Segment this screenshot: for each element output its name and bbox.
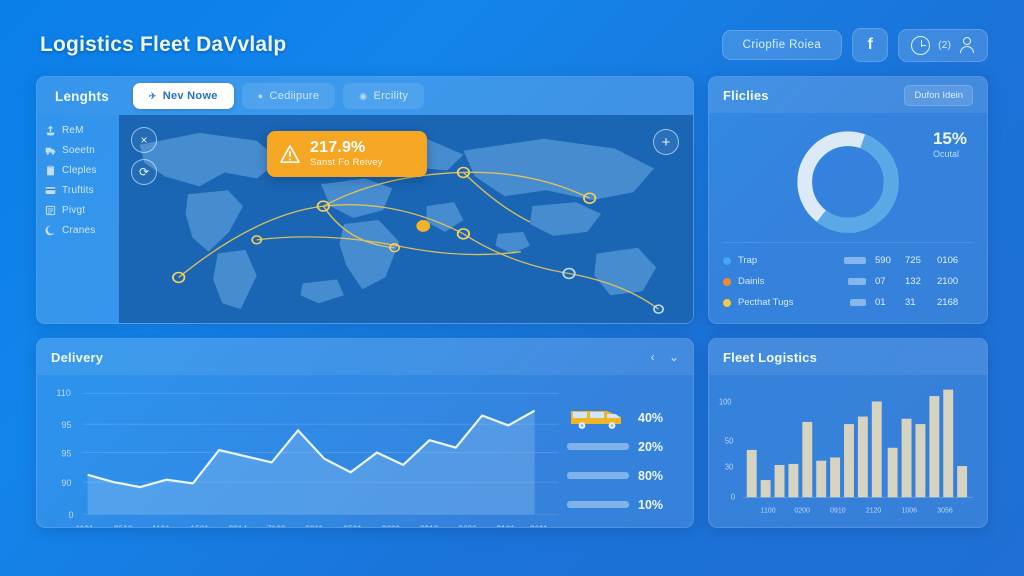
svg-text:1191: 1191 (152, 523, 170, 528)
status-icon-group[interactable]: (2) (898, 29, 988, 62)
logistics-panel-title: Fleet Logistics (723, 350, 817, 365)
svg-text:2914: 2914 (229, 523, 248, 528)
page-title: Logistics Fleet DaVvlalp (36, 33, 286, 57)
bar-icon (567, 501, 629, 508)
sidebar-item-truftits[interactable]: Truftits (45, 185, 111, 196)
svg-text:110: 110 (57, 388, 71, 398)
svg-text:2101: 2101 (496, 523, 515, 528)
alert-value: 217.9% (310, 140, 383, 157)
bar-chart-svg: 10050300 (717, 381, 977, 521)
bar-icon (567, 472, 629, 479)
donut-subtitle: Ocutal (933, 149, 967, 159)
bar-icon (567, 443, 629, 450)
svg-text:0910: 0910 (830, 505, 845, 514)
notification-badge: (2) (938, 39, 951, 51)
legend-dot-icon (723, 299, 731, 307)
legend-label: Trap (738, 255, 844, 266)
legend-value-2: 725 (905, 255, 937, 266)
location-icon: ✈ (149, 91, 157, 102)
legend-value-1: 590 (875, 255, 905, 266)
svg-text:0911: 0911 (305, 523, 323, 528)
delivery-panel-title: Delivery (51, 350, 103, 365)
fleet-legend: Trap 590 725 0106 Dainls 07 132 2100 (723, 242, 973, 313)
van-icon (567, 405, 629, 431)
delivery-nav: ‹ ⌄ (640, 348, 679, 366)
map-wrapper: ReM Soeetn Cleples Truftits (37, 115, 693, 323)
svg-text:2501: 2501 (343, 523, 362, 528)
tab-ercility[interactable]: ◉ Ercility (343, 83, 424, 109)
svg-text:95: 95 (61, 420, 71, 430)
sidebar-item-rem[interactable]: ReM (45, 125, 111, 136)
svg-text:1100: 1100 (761, 505, 776, 514)
logistics-bar-chart[interactable]: 10050300 (709, 375, 987, 527)
svg-text:3056: 3056 (937, 505, 952, 514)
svg-text:2600: 2600 (458, 523, 477, 528)
list-icon (45, 205, 56, 216)
stat-row[interactable]: 20% (567, 437, 679, 457)
sidebar-item-label: ReM (62, 125, 84, 136)
legend-row[interactable]: Pecthat Tugs 01 31 2168 (723, 292, 973, 313)
app-header: Logistics Fleet DaVvlalp Criopfie Roiea … (36, 22, 988, 68)
stat-percent: 40% (638, 411, 663, 425)
svg-text:50: 50 (725, 436, 733, 445)
card-icon (45, 185, 56, 196)
tab-label: Nev Nowe (163, 90, 218, 102)
donut-label: 15% Ocutal (933, 129, 967, 159)
facebook-icon[interactable]: f (852, 28, 888, 62)
sidebar-item-soeetn[interactable]: Soeetn (45, 145, 111, 156)
legend-row[interactable]: Trap 590 725 0106 (723, 250, 973, 271)
refresh-icon[interactable]: ⟳ (131, 159, 157, 185)
legend-dot-icon (723, 278, 731, 286)
svg-text:0: 0 (69, 510, 74, 520)
tab-label: Cediipure (269, 90, 319, 102)
dashboard-root: Logistics Fleet DaVvlalp Criopfie Roiea … (0, 0, 1024, 576)
warning-icon (279, 144, 301, 164)
svg-text:2011: 2011 (530, 523, 548, 528)
stat-percent: 10% (638, 498, 663, 512)
legend-row[interactable]: Dainls 07 132 2100 (723, 271, 973, 292)
delivery-line-chart[interactable]: 1109595 900 113125101191 150129147199 09… (47, 381, 561, 528)
donut-zone: 15% Ocutal (723, 121, 973, 242)
fleet-panel-head: Fliclies Dufon Idein (709, 77, 987, 113)
create-route-button[interactable]: Criopfie Roiea (722, 30, 842, 60)
header-actions: Criopfie Roiea f (2) (722, 28, 988, 62)
svg-text:1131: 1131 (76, 523, 94, 528)
fleet-panel-body: 15% Ocutal Trap 590 725 0106 (709, 113, 987, 323)
delivery-card: Delivery ‹ ⌄ (36, 338, 694, 528)
fleet-detail-button[interactable]: Dufon Idein (904, 85, 973, 106)
sidebar-item-label: Soeetn (62, 145, 95, 156)
legend-dot-icon (723, 257, 731, 265)
svg-text:2510: 2510 (114, 523, 133, 528)
legend-bar-icon (850, 299, 866, 306)
legend-value-3: 2168 (937, 297, 973, 308)
svg-text:0200: 0200 (794, 505, 809, 514)
world-map[interactable]: × ⟳ + 217.9% Sanst Fo Reivey (119, 115, 693, 323)
legend-label: Dainls (738, 276, 848, 287)
svg-text:2120: 2120 (866, 505, 881, 514)
svg-text:2919: 2919 (420, 523, 439, 528)
map-tabbar: Lenghts ✈ Nev Nowe ● Cediipure ◉ Ercilit… (37, 77, 693, 115)
stat-row[interactable]: 80% (567, 466, 679, 486)
globe-icon: ◉ (359, 91, 367, 102)
donut-chart (789, 123, 907, 241)
zoom-in-button[interactable]: + (653, 129, 679, 155)
svg-text:2601: 2601 (382, 523, 401, 528)
logistics-panel-head: Fleet Logistics (709, 339, 987, 375)
tag-icon (45, 225, 56, 236)
legend-value-1: 01 (875, 297, 905, 308)
sidebar-item-cranes[interactable]: Cranes (45, 225, 111, 236)
stat-row[interactable]: 40% (567, 408, 679, 428)
svg-text:0: 0 (731, 492, 735, 501)
clock-icon[interactable] (911, 36, 930, 55)
ship-icon (45, 125, 56, 136)
tab-nev-nowe[interactable]: ✈ Nev Nowe (133, 83, 234, 109)
chevron-down-icon[interactable]: ⌄ (669, 350, 679, 364)
tab-label: Ercility (373, 90, 408, 102)
svg-text:100: 100 (719, 397, 731, 406)
svg-text:7199: 7199 (267, 523, 286, 528)
pin-icon: ● (258, 91, 264, 101)
legend-value-3: 0106 (937, 255, 973, 266)
sidebar-item-label: Cleples (62, 165, 97, 176)
legend-label: Pecthat Tugs (738, 297, 850, 308)
bottom-row: Delivery ‹ ⌄ (36, 338, 988, 528)
alert-subtitle: Sanst Fo Reivey (310, 157, 383, 168)
legend-value-3: 2100 (937, 276, 973, 287)
delivery-panel-head: Delivery ‹ ⌄ (37, 339, 693, 375)
fleet-card: Fliclies Dufon Idein 15% Ocutal (708, 76, 988, 324)
legend-bar-icon (844, 257, 866, 264)
close-icon[interactable]: × (131, 127, 157, 153)
svg-text:1006: 1006 (902, 505, 917, 514)
svg-text:95: 95 (61, 448, 71, 458)
map-card: Lenghts ✈ Nev Nowe ● Cediipure ◉ Ercilit… (36, 76, 694, 324)
stat-percent: 80% (638, 469, 663, 483)
svg-text:30: 30 (725, 462, 733, 471)
chevron-left-icon[interactable]: ‹ (650, 350, 654, 364)
map-panel-title: Lenghts (49, 89, 125, 104)
sidebar-item-label: Truftits (62, 185, 94, 196)
svg-text:1501: 1501 (190, 523, 209, 528)
clipboard-icon (45, 165, 56, 176)
user-icon[interactable] (959, 37, 975, 53)
legend-value-2: 31 (905, 297, 937, 308)
stat-row[interactable]: 10% (567, 495, 679, 515)
legend-value-2: 132 (905, 276, 937, 287)
truck-icon (45, 145, 56, 156)
logistics-card: Fleet Logistics 10050300 (708, 338, 988, 528)
legend-value-1: 07 (875, 276, 905, 287)
stat-percent: 20% (638, 440, 663, 454)
fleet-panel-title: Fliclies (723, 88, 769, 103)
delivery-stats: 40% 20% 80% 10% (561, 381, 679, 528)
sidebar-item-label: Pivgt (62, 205, 85, 216)
sidebar-item-pivgt[interactable]: Pivgt (45, 205, 111, 216)
line-chart-svg: 1109595 900 113125101191 150129147199 09… (47, 381, 561, 528)
sidebar-item-cleples[interactable]: Cleples (45, 165, 111, 176)
svg-text:90: 90 (61, 478, 71, 488)
donut-value: 15% (933, 129, 967, 149)
legend-bar-icon (848, 278, 866, 285)
tab-cediipure[interactable]: ● Cediipure (242, 83, 336, 109)
alert-card[interactable]: 217.9% Sanst Fo Reivey (267, 131, 427, 177)
top-row: Lenghts ✈ Nev Nowe ● Cediipure ◉ Ercilit… (36, 76, 988, 324)
sidebar-item-label: Cranes (62, 225, 95, 236)
map-sidebar: ReM Soeetn Cleples Truftits (37, 115, 119, 323)
delivery-chart-row: 1109595 900 113125101191 150129147199 09… (37, 375, 693, 528)
